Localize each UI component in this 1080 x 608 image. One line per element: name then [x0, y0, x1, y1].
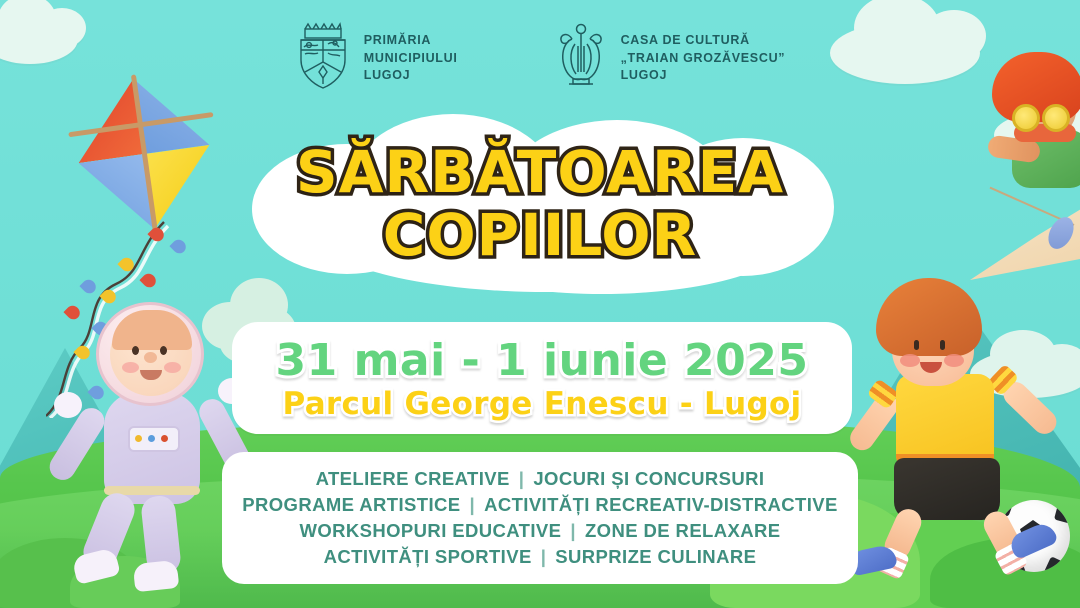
- poster-root: PRIMĂRIA MUNICIPIULUI LUGOJ: [0, 0, 1080, 608]
- activity-label: ZONE DE RELAXARE: [585, 520, 781, 542]
- activity-separator: |: [519, 468, 525, 490]
- activity-label: ATELIERE CREATIVE: [316, 468, 510, 490]
- logo-primaria: PRIMĂRIA MUNICIPIULUI LUGOJ: [295, 22, 458, 95]
- title-card: SĂRBĂTOAREA COPIILOR: [252, 114, 828, 294]
- running-boy-illustration: [840, 278, 1050, 568]
- binoculars-icon: [1012, 104, 1074, 134]
- logo-casa-de-cultura-label: CASA DE CULTURĂ „TRAIAN GROZĂVESCU” LUGO…: [621, 32, 786, 85]
- activity-row: PROGRAME ARTISTICE | ACTIVITĂȚI RECREATI…: [242, 494, 838, 516]
- header-logos: PRIMĂRIA MUNICIPIULUI LUGOJ: [0, 22, 1080, 95]
- activity-row: ATELIERE CREATIVE | JOCURI ȘI CONCURSURI: [316, 468, 765, 490]
- event-date: 31 mai - 1 iunie 2025: [276, 335, 809, 386]
- activity-label: ACTIVITĂȚI SPORTIVE: [324, 546, 532, 568]
- event-location: Parcul George Enescu - Lugoj: [283, 386, 802, 422]
- activity-label: WORKSHOPURI EDUCATIVE: [299, 520, 561, 542]
- page-title-line1: SĂRBĂTOAREA: [296, 143, 784, 202]
- date-place-card: 31 mai - 1 iunie 2025 Parcul George Enes…: [232, 322, 852, 434]
- page-title-line2: COPIILOR: [383, 206, 697, 265]
- activity-label: JOCURI ȘI CONCURSURI: [533, 468, 764, 490]
- activity-separator: |: [469, 494, 475, 516]
- activity-label: ACTIVITĂȚI RECREATIV-DISTRACTIVE: [484, 494, 838, 516]
- coat-of-arms-icon: [295, 22, 351, 95]
- activity-row: ACTIVITĂȚI SPORTIVE | SURPRIZE CULINARE: [324, 546, 757, 568]
- activity-label: PROGRAME ARTISTICE: [242, 494, 460, 516]
- astronaut-child-illustration: [48, 296, 248, 596]
- activities-card: ATELIERE CREATIVE | JOCURI ȘI CONCURSURI…: [222, 452, 858, 584]
- activity-separator: |: [541, 546, 547, 568]
- logo-casa-de-cultura: CASA DE CULTURĂ „TRAIAN GROZĂVESCU” LUGO…: [554, 22, 786, 95]
- activity-row: WORKSHOPURI EDUCATIVE | ZONE DE RELAXARE: [299, 520, 780, 542]
- activity-label: SURPRIZE CULINARE: [555, 546, 756, 568]
- activity-separator: |: [570, 520, 576, 542]
- logo-primaria-label: PRIMĂRIA MUNICIPIULUI LUGOJ: [364, 32, 458, 85]
- lyre-icon: [554, 22, 608, 95]
